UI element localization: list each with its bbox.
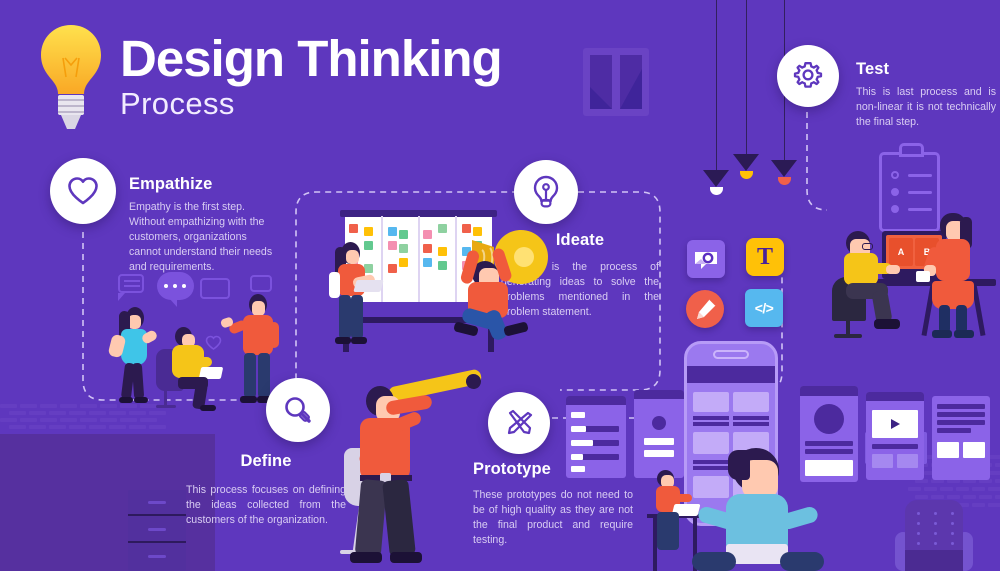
sticky-note [388, 264, 397, 273]
step-label-define: Define [186, 452, 346, 471]
lightbulb-outline-icon [531, 175, 561, 209]
image-icon [687, 240, 725, 278]
step-desc-test: This is last process and is non-linear i… [856, 85, 996, 130]
clipboard-clip [899, 143, 924, 157]
sticky-note [438, 247, 447, 256]
sticky-note [438, 261, 447, 270]
illustration-man-bulb [448, 228, 548, 338]
sticky-note [438, 224, 447, 233]
illustration-foreground-man [692, 448, 822, 571]
step-circle-test[interactable] [777, 45, 839, 107]
step-text-define: Define This process focuses on defining … [186, 452, 346, 528]
step-text-test: Test This is last process and is non-lin… [856, 60, 996, 130]
sticky-note [423, 230, 432, 239]
page-title: Design Thinking Process [120, 32, 540, 122]
gear-icon [792, 60, 824, 92]
text-t-glyph: T [757, 244, 773, 271]
tool-icon-image[interactable] [687, 240, 725, 278]
sticky-note [423, 244, 432, 253]
sticky-note [388, 227, 397, 236]
illustration-woman-laptop [329, 242, 375, 352]
speech-bubble-lines [118, 274, 144, 293]
window-decoration [583, 48, 649, 116]
filing-cabinet [128, 490, 186, 571]
step-circle-empathize[interactable] [50, 158, 116, 224]
sticky-note [388, 241, 397, 250]
lightbulb-icon [34, 22, 108, 132]
code-glyph: </> [755, 300, 773, 316]
monitor-variant-a: A [889, 238, 913, 266]
step-text-empathize: Empathize Empathy is the first step. Wit… [129, 175, 274, 275]
play-icon [888, 417, 902, 431]
pencil-ruler-icon [503, 407, 535, 439]
pendant-lamp-2 [733, 0, 759, 179]
sticky-note [399, 244, 408, 253]
brick-wall-left [0, 404, 175, 426]
pendant-lamp-1 [703, 0, 729, 195]
speech-bubble-dots [157, 272, 194, 300]
title-line-2: Process [120, 86, 540, 122]
sticky-note [399, 258, 408, 267]
illustration-telescope-man [338, 370, 483, 571]
sticky-note [423, 258, 432, 267]
step-label-empathize: Empathize [129, 175, 274, 194]
heart-icon [67, 176, 99, 206]
pen-icon [686, 290, 724, 328]
speech-bubble-small [250, 275, 272, 292]
illustration-empathize [100, 272, 285, 407]
step-desc-define: This process focuses on defining the ide… [186, 483, 346, 528]
magnifier-icon [283, 395, 313, 425]
speech-bubble-plain [200, 278, 230, 299]
infographic-poster: Design Thinking Process Empathize Empath… [0, 0, 1000, 571]
sticky-note [364, 227, 373, 236]
sticky-note [349, 224, 358, 233]
illustration-ab-testing: A B [826, 195, 1000, 340]
sticky-note [399, 230, 408, 239]
title-line-1: Design Thinking [120, 32, 540, 85]
step-label-test: Test [856, 60, 996, 79]
step-circle-ideate[interactable] [514, 160, 578, 224]
step-desc-empathize: Empathy is the first step. Without empat… [129, 200, 274, 275]
step-circle-prototype[interactable] [488, 392, 550, 454]
step-circle-define[interactable] [266, 378, 330, 442]
